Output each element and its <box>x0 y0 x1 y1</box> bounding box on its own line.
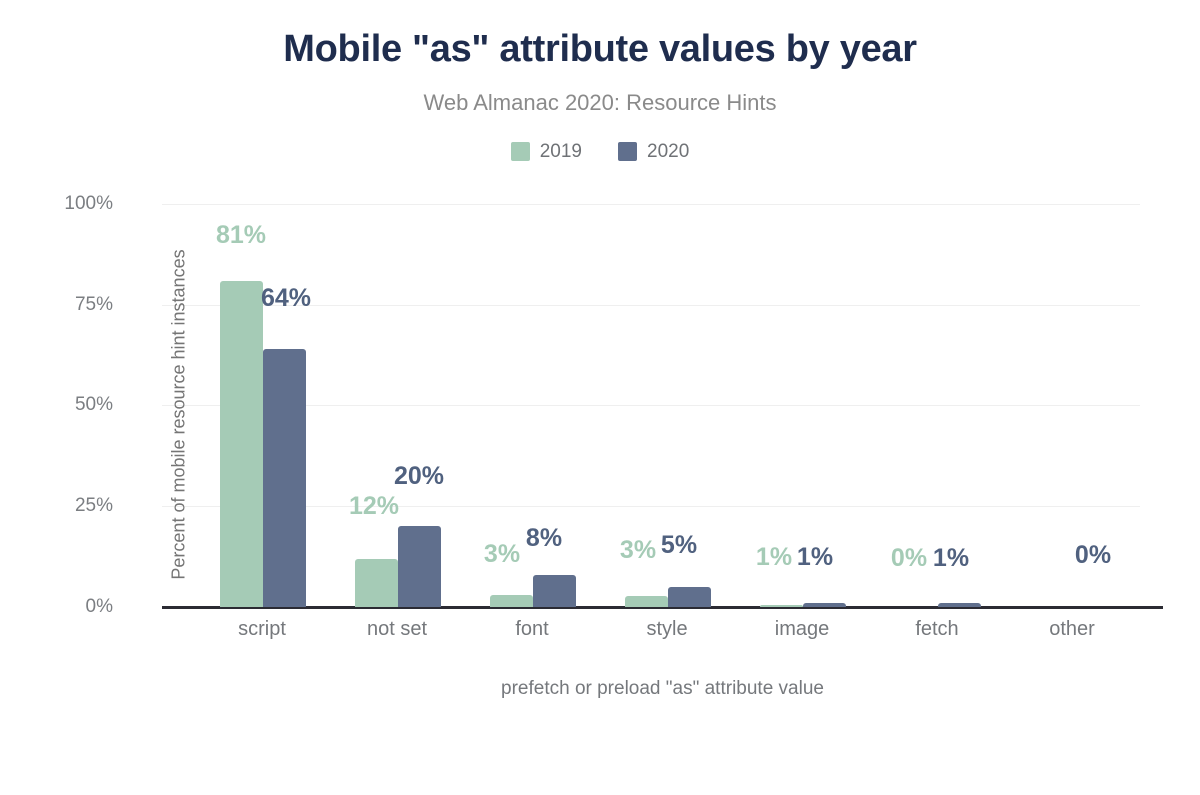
label-notset-2019: 12% <box>304 492 444 521</box>
y-tick-75: 75% <box>0 294 113 316</box>
label-notset-2020: 20% <box>349 462 489 491</box>
bar-chart: Mobile "as" attribute values by year Web… <box>0 0 1200 742</box>
bar-script-2019[interactable] <box>220 281 263 607</box>
plot-area: 100%75%50%25%0% 81%64%12%20%3%8%3%5%1%1%… <box>162 204 1163 607</box>
gridline-2 <box>162 405 1140 406</box>
bar-fetch-2020[interactable] <box>938 603 981 607</box>
y-tick-0: 0% <box>0 596 113 618</box>
x-axis-title: prefetch or preload "as" attribute value <box>162 678 1163 700</box>
legend-swatch-2019 <box>511 142 530 161</box>
label-fetch-2020: 1% <box>881 544 1021 573</box>
bar-style-2019[interactable] <box>625 596 668 607</box>
legend-swatch-2020 <box>618 142 637 161</box>
legend-label-2019: 2019 <box>540 142 582 161</box>
legend-item-2020[interactable]: 2020 <box>618 142 689 161</box>
label-other-2020: 0% <box>1023 541 1163 570</box>
y-tick-100: 100% <box>0 193 113 215</box>
bar-image-2019[interactable] <box>760 605 803 607</box>
bar-font-2019[interactable] <box>490 595 533 607</box>
bar-notset-2019[interactable] <box>355 559 398 607</box>
legend-item-2019[interactable]: 2019 <box>511 142 582 161</box>
bar-font-2020[interactable] <box>533 575 576 607</box>
gridline-0 <box>162 204 1140 205</box>
legend-label-2020: 2020 <box>647 142 689 161</box>
x-tick-other: other <box>982 618 1162 641</box>
label-script-2019: 81% <box>171 221 311 250</box>
bar-script-2020[interactable] <box>263 349 306 607</box>
bar-image-2020[interactable] <box>803 603 846 607</box>
y-tick-50: 50% <box>0 394 113 416</box>
label-script-2020: 64% <box>216 284 356 313</box>
bar-style-2020[interactable] <box>668 587 711 607</box>
y-tick-25: 25% <box>0 495 113 517</box>
